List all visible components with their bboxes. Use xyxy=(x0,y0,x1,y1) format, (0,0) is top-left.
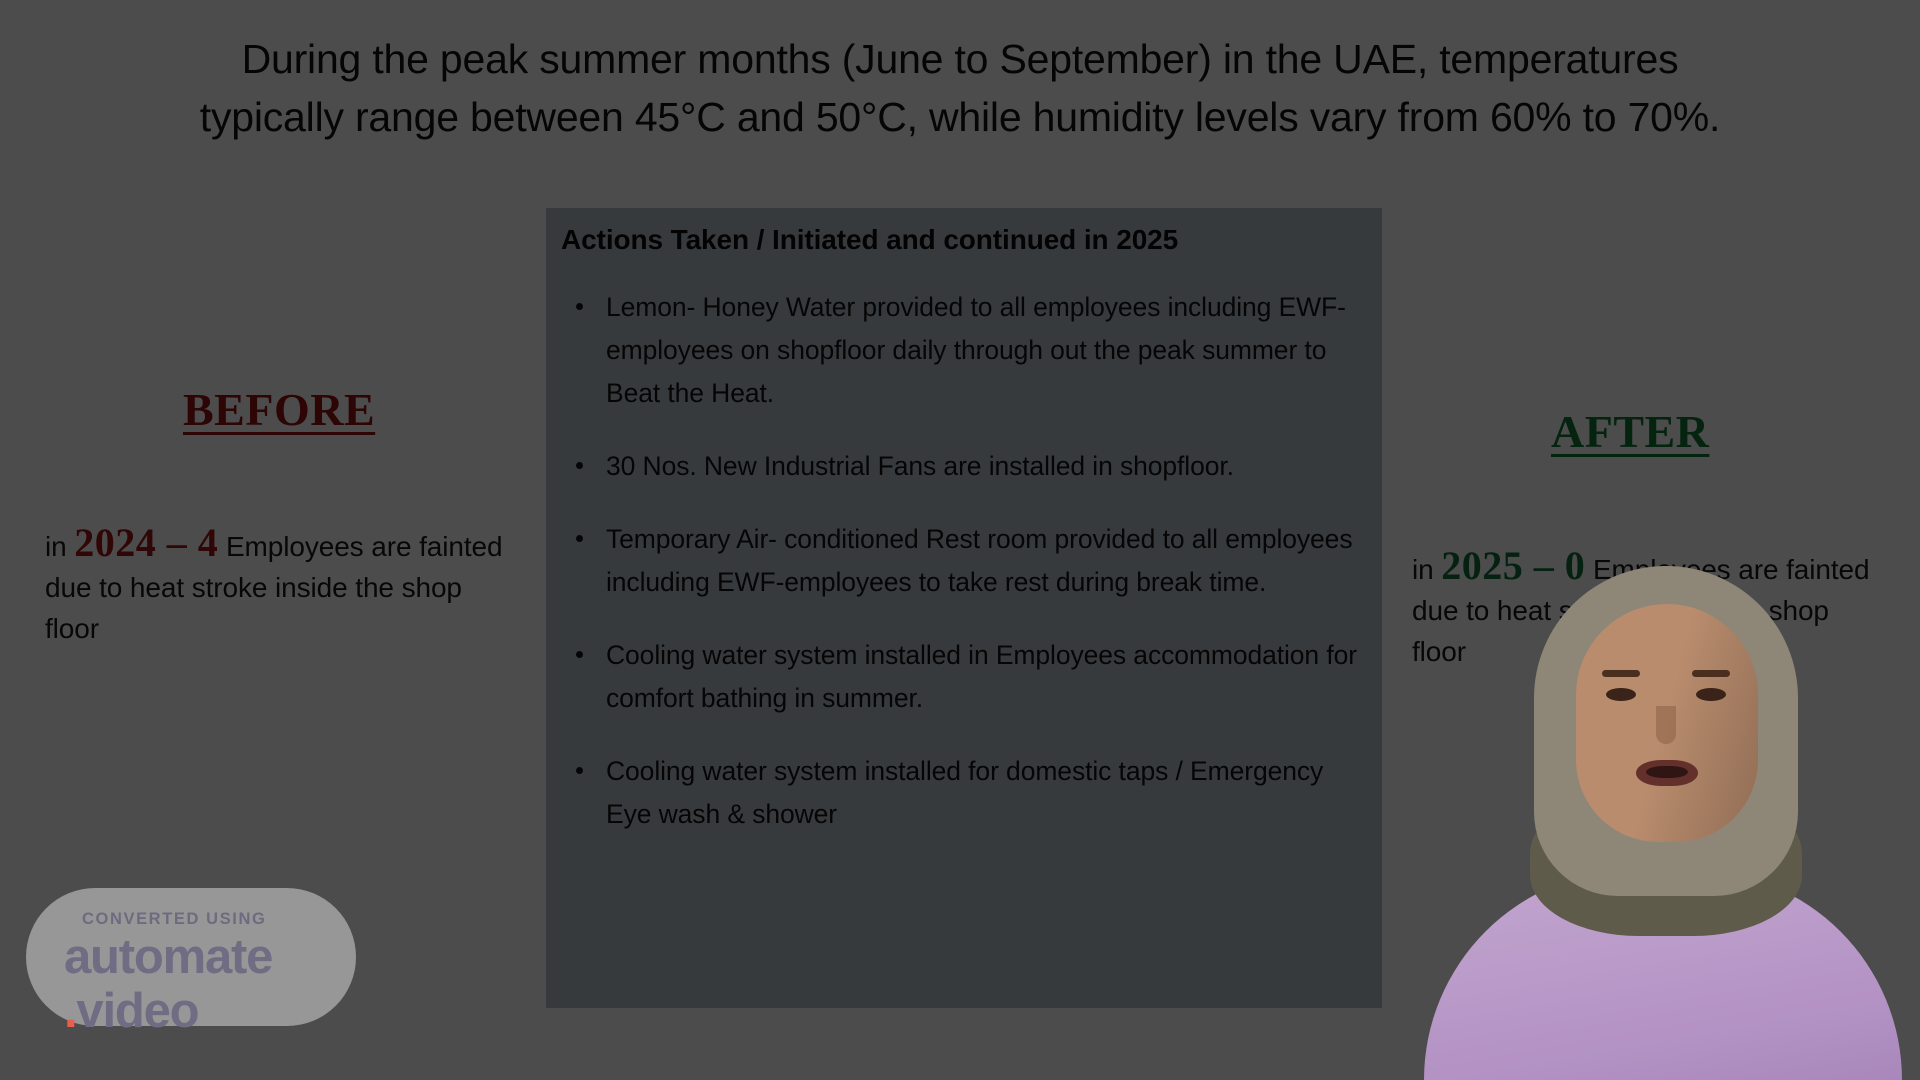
slide-headline: During the peak summer months (June to S… xyxy=(96,30,1824,146)
before-paragraph: in 2024 – 4 Employees are fainted due to… xyxy=(45,522,515,649)
list-item: Temporary Air- conditioned Rest room pro… xyxy=(558,518,1368,604)
bullet-dot-icon xyxy=(576,767,583,774)
bullet-dot-icon xyxy=(576,651,583,658)
watermark-wordmark: automate .video xyxy=(64,930,272,1038)
actions-panel: Actions Taken / Initiated and continued … xyxy=(546,208,1382,1008)
list-item-text: 30 Nos. New Industrial Fans are installe… xyxy=(606,451,1234,481)
presenter-mouth-inner xyxy=(1646,766,1688,778)
watermark-kicker: CONVERTED USING xyxy=(82,910,266,929)
list-item-text: Cooling water system installed in Employ… xyxy=(606,640,1357,713)
list-item: Cooling water system installed in Employ… xyxy=(558,634,1368,720)
presenter-avatar xyxy=(1410,548,1920,1080)
watermark-word-bottom-row: .video xyxy=(64,984,272,1038)
before-heading: BEFORE xyxy=(183,383,375,436)
bullet-dot-icon xyxy=(576,535,583,542)
slide-stage: During the peak summer months (June to S… xyxy=(0,0,1920,1080)
bullet-dot-icon xyxy=(576,303,583,310)
presenter-eye-right xyxy=(1696,688,1726,701)
list-item: Cooling water system installed for domes… xyxy=(558,750,1368,836)
presenter-eyebrow-left xyxy=(1602,670,1640,677)
watermark-dot: . xyxy=(64,984,76,1038)
watermark-word-top: automate xyxy=(64,930,272,984)
before-prefix: in xyxy=(45,531,74,562)
before-count: 2024 – 4 xyxy=(74,520,218,565)
bullet-dot-icon xyxy=(576,462,583,469)
list-item: Lemon- Honey Water provided to all emplo… xyxy=(558,286,1368,415)
actions-bullet-list: Lemon- Honey Water provided to all emplo… xyxy=(558,286,1368,866)
list-item-text: Cooling water system installed for domes… xyxy=(606,756,1323,829)
headline-line-2: typically range between 45°C and 50°C, w… xyxy=(96,88,1824,146)
presenter-eyebrow-right xyxy=(1692,670,1730,677)
headline-line-1: During the peak summer months (June to S… xyxy=(96,30,1824,88)
automate-video-watermark[interactable]: CONVERTED USING automate .video xyxy=(26,888,356,1026)
presenter-eye-left xyxy=(1606,688,1636,701)
actions-panel-title: Actions Taken / Initiated and continued … xyxy=(561,224,1351,256)
list-item-text: Temporary Air- conditioned Rest room pro… xyxy=(606,524,1352,597)
after-heading: AFTER xyxy=(1551,405,1709,458)
list-item-text: Lemon- Honey Water provided to all emplo… xyxy=(606,292,1346,408)
presenter-nose xyxy=(1656,706,1676,744)
list-item: 30 Nos. New Industrial Fans are installe… xyxy=(558,445,1368,488)
watermark-word-bottom: video xyxy=(76,984,198,1038)
